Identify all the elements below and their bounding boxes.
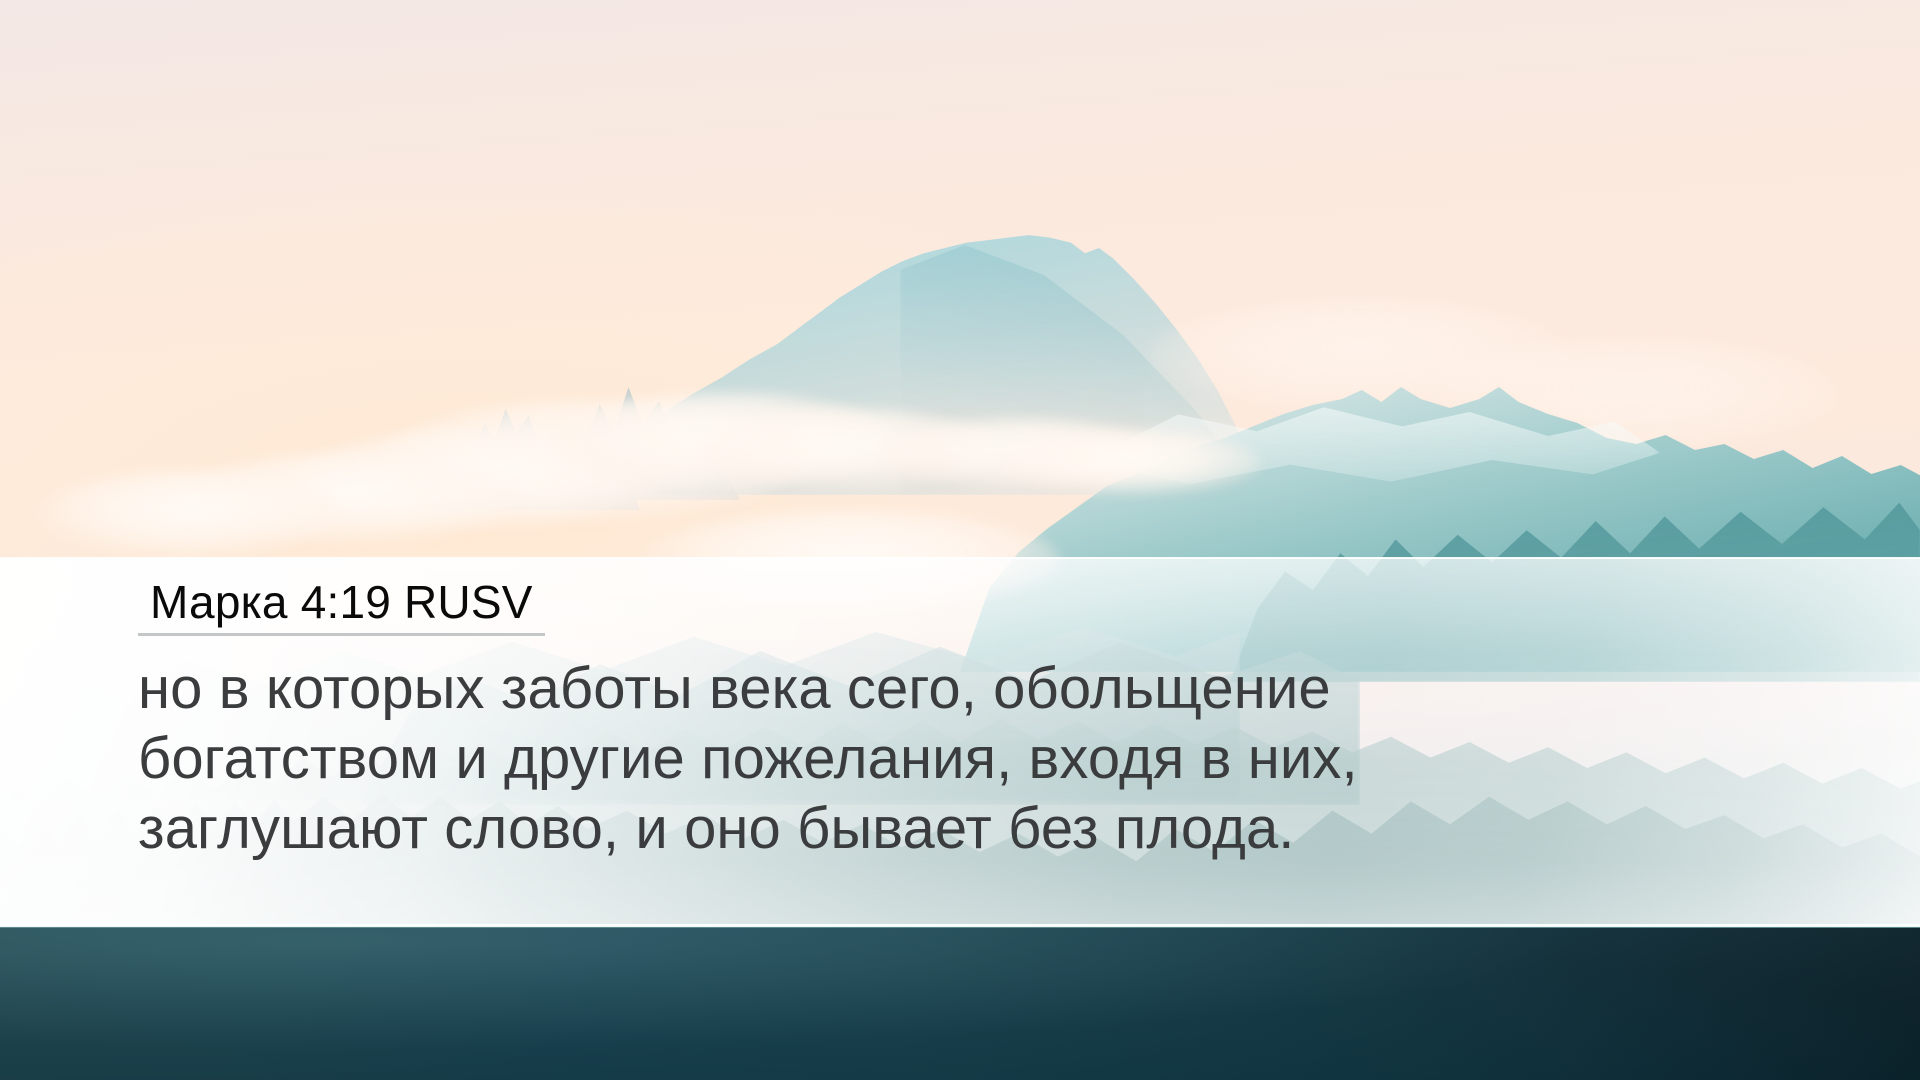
cloud	[40, 470, 340, 556]
scripture-slide: Марка 4:19 RUSV но в которых заботы века…	[0, 0, 1920, 1080]
overlay-bottom-rule	[0, 924, 1920, 927]
overlay-top-rule	[0, 557, 1920, 559]
verse-line: заглушают слово, и оно бывает без плода.	[138, 794, 1838, 864]
verse-line: но в которых заботы века сего, обольщени…	[138, 654, 1838, 724]
verse-line: богатством и другие пожелания, входя в н…	[138, 724, 1838, 794]
cloud	[1000, 430, 1260, 494]
bottom-water-veil	[0, 928, 1920, 1080]
scripture-text-block: Марка 4:19 RUSV но в которых заботы века…	[138, 575, 1838, 865]
verse-reference: Марка 4:19 RUSV	[138, 575, 545, 636]
verse-text: но в которых заботы века сего, обольщени…	[138, 654, 1838, 865]
